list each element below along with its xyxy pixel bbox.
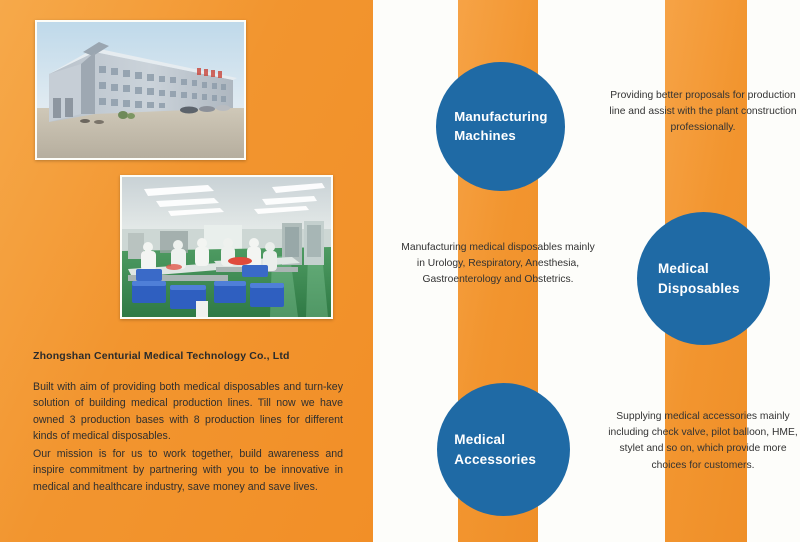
- factory-building-photo: [35, 20, 246, 160]
- cleanroom-illustration: [122, 177, 331, 317]
- circle-medical-accessories-label: Medical Accessories: [446, 430, 560, 468]
- circle-medical-accessories[interactable]: Medical Accessories: [437, 383, 570, 516]
- cleanroom-production-photo: [120, 175, 333, 319]
- company-name: Zhongshan Centurial Medical Technology C…: [33, 350, 343, 362]
- company-intro-paragraph: Built with aim of providing both medical…: [33, 379, 343, 445]
- factory-building-illustration: [37, 22, 244, 158]
- description-medical-accessories: Supplying medical accessories mainly inc…: [608, 409, 798, 474]
- circle-medical-disposables[interactable]: Medical Disposables: [637, 212, 770, 345]
- description-manufacturing-machines: Providing better proposals for productio…: [607, 88, 799, 137]
- circle-manufacturing-machines-label: Manufacturing Machines: [446, 108, 555, 145]
- company-mission-paragraph: Our mission is for us to work together, …: [33, 446, 343, 495]
- description-medical-disposables: Manufacturing medical disposables mainly…: [398, 240, 598, 289]
- circle-manufacturing-machines[interactable]: Manufacturing Machines: [436, 62, 565, 191]
- circle-medical-disposables-label: Medical Disposables: [648, 259, 759, 297]
- brochure-page: Zhongshan Centurial Medical Technology C…: [0, 0, 800, 542]
